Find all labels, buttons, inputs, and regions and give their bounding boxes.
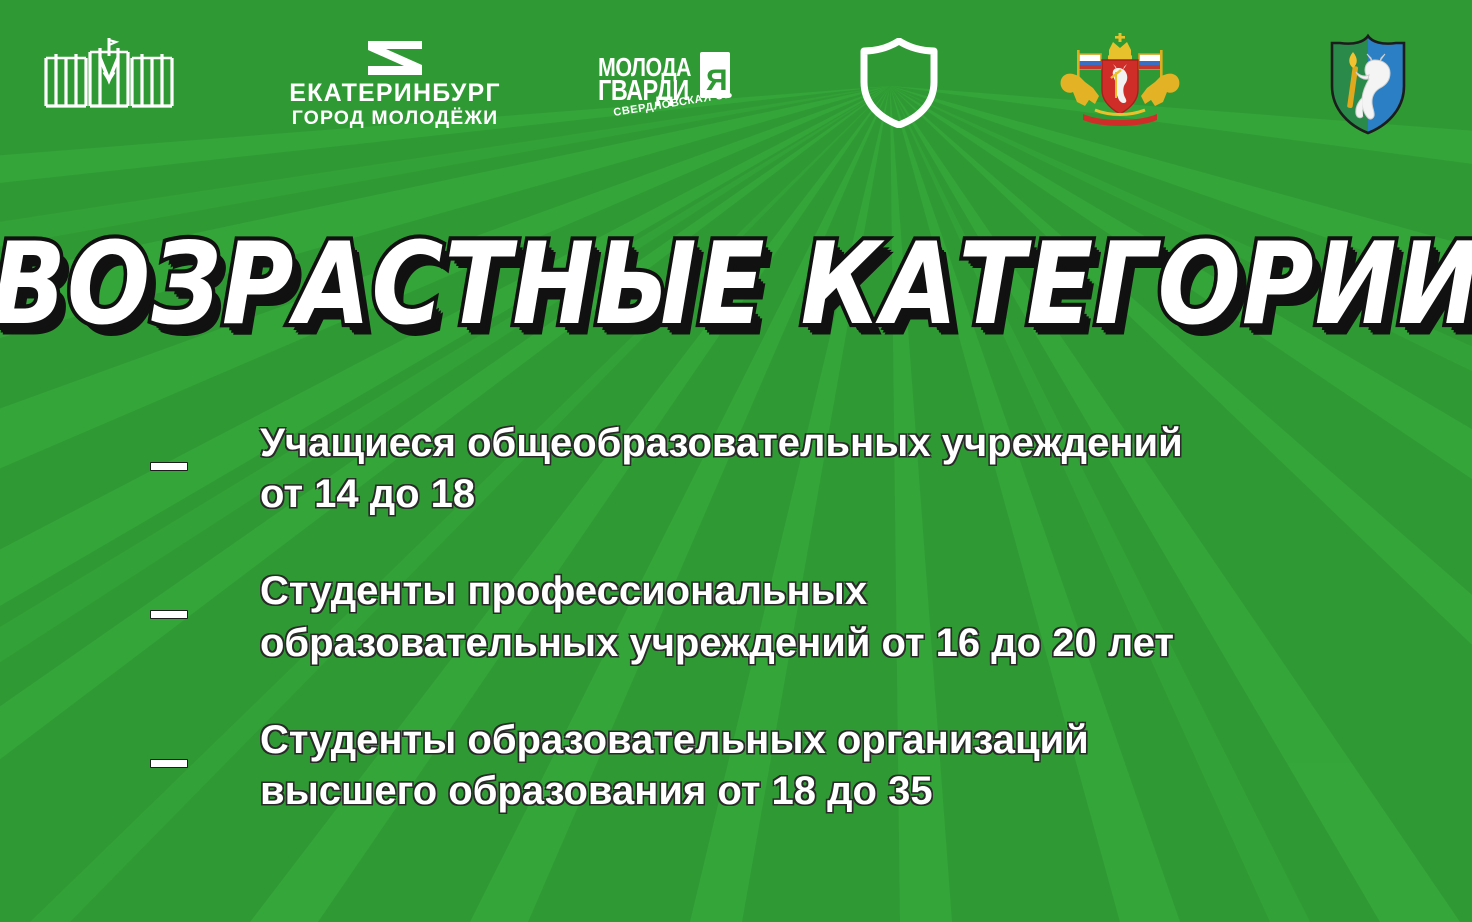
category-text: Студенты профессиональных образовательны…: [260, 566, 1174, 668]
coat-of-arms-ekaterinburg-icon: [1320, 30, 1416, 138]
ekaterinburg-coat-of-arms: [1320, 30, 1416, 138]
molodaya-gvardiya-logo: МОЛОДА ГВАРДИ Я СВЕРДЛОВСКАЯ ОБЛАСТЬ: [596, 50, 732, 124]
title-block: ВОЗРАСТНЫЕ КАТЕГОРИИ: [0, 228, 1472, 340]
category-text: Учащиеся общеобразовательных учреждений …: [260, 418, 1183, 520]
ekaterinburg-logo-line2: ГОРОД МОЛОДЁЖИ: [289, 108, 501, 128]
category-line: от 14 до 18: [260, 469, 1183, 520]
dash-bullet-icon: [150, 759, 188, 768]
category-text: Студенты образовательных организаций выс…: [260, 715, 1089, 817]
category-line: Студенты образовательных организаций: [260, 715, 1089, 766]
molodaya-gvardiya-wordmark-icon: МОЛОДА ГВАРДИ Я СВЕРДЛОВСКАЯ ОБЛАСТЬ: [596, 50, 732, 124]
list-item: Учащиеся общеобразовательных учреждений …: [0, 418, 1472, 520]
shield-icon: [858, 38, 940, 128]
shield-emblem: [858, 38, 940, 128]
coat-of-arms-sverdlovsk-oblast-icon: [1055, 30, 1185, 134]
kremlin-wall-m-emblem-icon: [42, 34, 176, 110]
ekaterinburg-logo: ЕКАТЕРИНБУРГ ГОРОД МОЛОДЁЖИ: [300, 46, 490, 124]
category-line: образовательных учреждений от 16 до 20 л…: [260, 618, 1174, 669]
dash-bullet-icon: [150, 462, 188, 471]
list-item: Студенты образовательных организаций выс…: [0, 715, 1472, 817]
slide-root: ЕКАТЕРИНБУРГ ГОРОД МОЛОДЁЖИ МОЛОДА ГВАРД…: [0, 0, 1472, 922]
ministry-education-emblem: [42, 34, 176, 110]
ekaterinburg-logo-line1: ЕКАТЕРИНБУРГ: [289, 80, 501, 106]
age-categories-list: Учащиеся общеобразовательных учреждений …: [0, 418, 1472, 863]
category-line: высшего образования от 18 до 35: [260, 766, 1089, 817]
list-item: Студенты профессиональных образовательны…: [0, 566, 1472, 668]
category-line: Учащиеся общеобразовательных учреждений: [260, 418, 1183, 469]
sigma-e-mark-icon: [289, 41, 501, 80]
header-logo-strip: ЕКАТЕРИНБУРГ ГОРОД МОЛОДЁЖИ МОЛОДА ГВАРД…: [0, 0, 1472, 150]
page-title: ВОЗРАСТНЫЕ КАТЕГОРИИ: [0, 218, 1472, 350]
category-line: Студенты профессиональных: [260, 566, 1174, 617]
dash-bullet-icon: [150, 610, 188, 619]
sverdlovsk-oblast-coat-of-arms: [1055, 30, 1185, 134]
